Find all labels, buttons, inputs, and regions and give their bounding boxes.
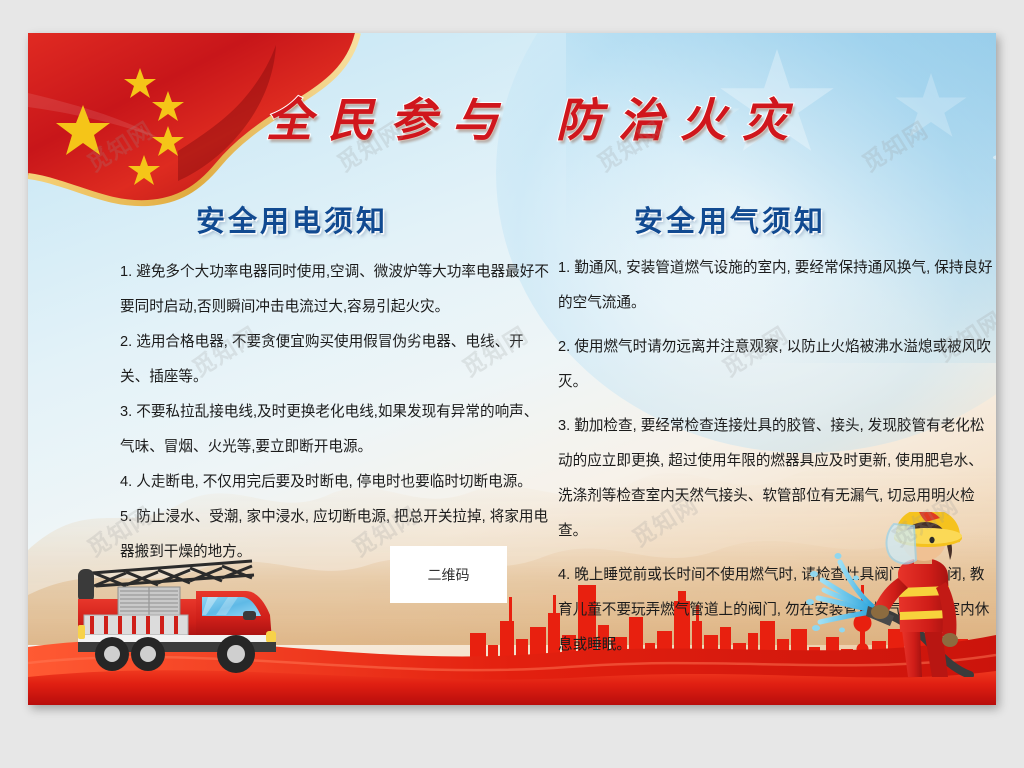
title-char: 与 <box>452 98 500 144</box>
electricity-safety-list: 1. 避免多个大功率电器同时使用,空调、微波炉等大功率电器最好不要同时启动,否则… <box>120 255 550 570</box>
list-item: 2. 选用合格电器, 不要贪便宜购买使用假冒伪劣电器、电线、开关、插座等。 <box>120 325 550 395</box>
qr-code-label: 二维码 <box>428 565 470 585</box>
list-item: 2. 使用燃气时请勿远离并注意观察, 以防止火焰被沸水溢熄或被风吹灭。 <box>558 330 996 400</box>
fire-truck-icon <box>56 553 311 675</box>
section-heading-gas: 安全用气须知 <box>634 198 826 240</box>
list-item: 4. 人走断电, 不仅用完后要及时断电, 停电时也要临时切断电源。 <box>120 465 550 500</box>
title-char: 全 <box>266 98 314 144</box>
firefighter-icon <box>798 512 988 677</box>
title-char: 防 <box>556 98 604 144</box>
sky-dot-decoration <box>993 155 996 160</box>
title-char: 灾 <box>742 98 790 144</box>
title-char: 治 <box>618 98 666 144</box>
list-item: 3. 不要私拉乱接电线,及时更换老化电线,如果发现有异常的响声、气味、冒烟、火光… <box>120 395 550 465</box>
poster-canvas: 全 民 参 与 防 治 火 灾 安全用电须知 安全用气须知 1. 避免多个大功率… <box>28 33 996 705</box>
qr-code-placeholder[interactable]: 二维码 <box>390 546 507 603</box>
title-char: 参 <box>390 98 438 144</box>
list-item: 1. 避免多个大功率电器同时使用,空调、微波炉等大功率电器最好不要同时启动,否则… <box>120 255 550 325</box>
title-group-1: 全 民 参 与 <box>266 98 500 144</box>
title-char: 民 <box>328 98 376 144</box>
title-char: 火 <box>680 98 728 144</box>
section-heading-electricity: 安全用电须知 <box>196 198 388 240</box>
poster-title: 全 民 参 与 防 治 火 灾 <box>168 85 888 157</box>
title-group-2: 防 治 火 灾 <box>556 98 790 144</box>
list-item: 1. 勤通风, 安装管道燃气设施的室内, 要经常保持通风换气, 保持良好的空气流… <box>558 251 996 321</box>
